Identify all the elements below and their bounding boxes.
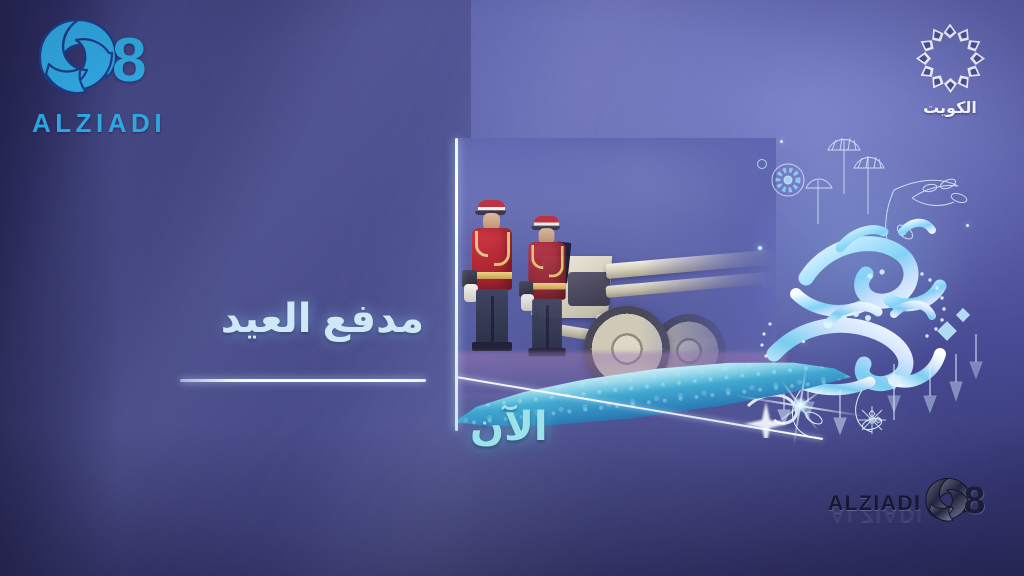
broadcast-graphic: مدفع العيد الآن 8 ALZIADI الكويت ALZIADI…: [0, 0, 1024, 576]
vignette-overlay: [0, 0, 1024, 576]
